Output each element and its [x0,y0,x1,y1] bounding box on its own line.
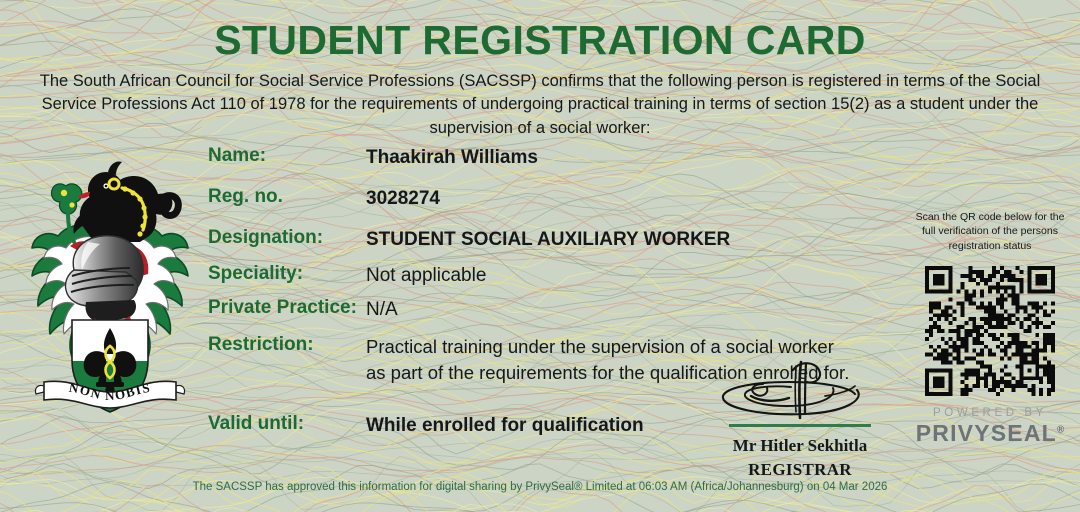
qr-instruction-text: Scan the QR code below for the full veri… [915,210,1065,253]
registrar-role: REGISTRAR [690,460,910,480]
privyseal-brand: PRIVYSEAL® [916,420,1065,447]
qr-verification-panel: Scan the QR code below for the full veri… [900,210,1080,447]
page-title: STUDENT REGISTRATION CARD [0,18,1080,63]
crest-lion [51,161,178,242]
approval-footer: The SACSSP has approved this information… [0,481,1080,493]
field-value: STUDENT SOCIAL AUXILIARY WORKER [366,227,730,254]
student-registration-card: STUDENT REGISTRATION CARD The South Afri… [0,0,1080,512]
registered-trademark-icon: ® [1057,425,1064,436]
sacssp-coat-of-arms: NON NOBIS [22,142,198,414]
field-label: Designation: [208,227,323,249]
field-label: Speciality: [208,263,303,285]
field-label: Reg. no. [208,186,283,208]
registrar-signature-block: Mr Hitler Sekhitla REGISTRAR [690,360,910,480]
field-value: While enrolled for qualification [366,413,644,440]
signature-mark [705,360,895,422]
field-value: 3028274 [366,186,440,213]
field-label: Private Practice: [208,297,357,319]
registrar-name: Mr Hitler Sekhitla [690,436,910,456]
field-value: Thaakirah Williams [366,145,538,172]
preamble-text: The South African Council for Social Ser… [26,70,1054,140]
field-label: Name: [208,145,266,167]
field-value: N/A [366,297,398,324]
field-label: Restriction: [208,334,314,356]
qr-code-image[interactable] [925,266,1055,396]
signature-rule [729,424,871,427]
qr-code[interactable] [925,266,1055,396]
powered-by-label: POWERED BY [900,407,1080,419]
privyseal-wordmark: PRIVYSEAL [916,420,1057,446]
field-label: Valid until: [208,413,304,435]
field-value: Not applicable [366,263,486,290]
